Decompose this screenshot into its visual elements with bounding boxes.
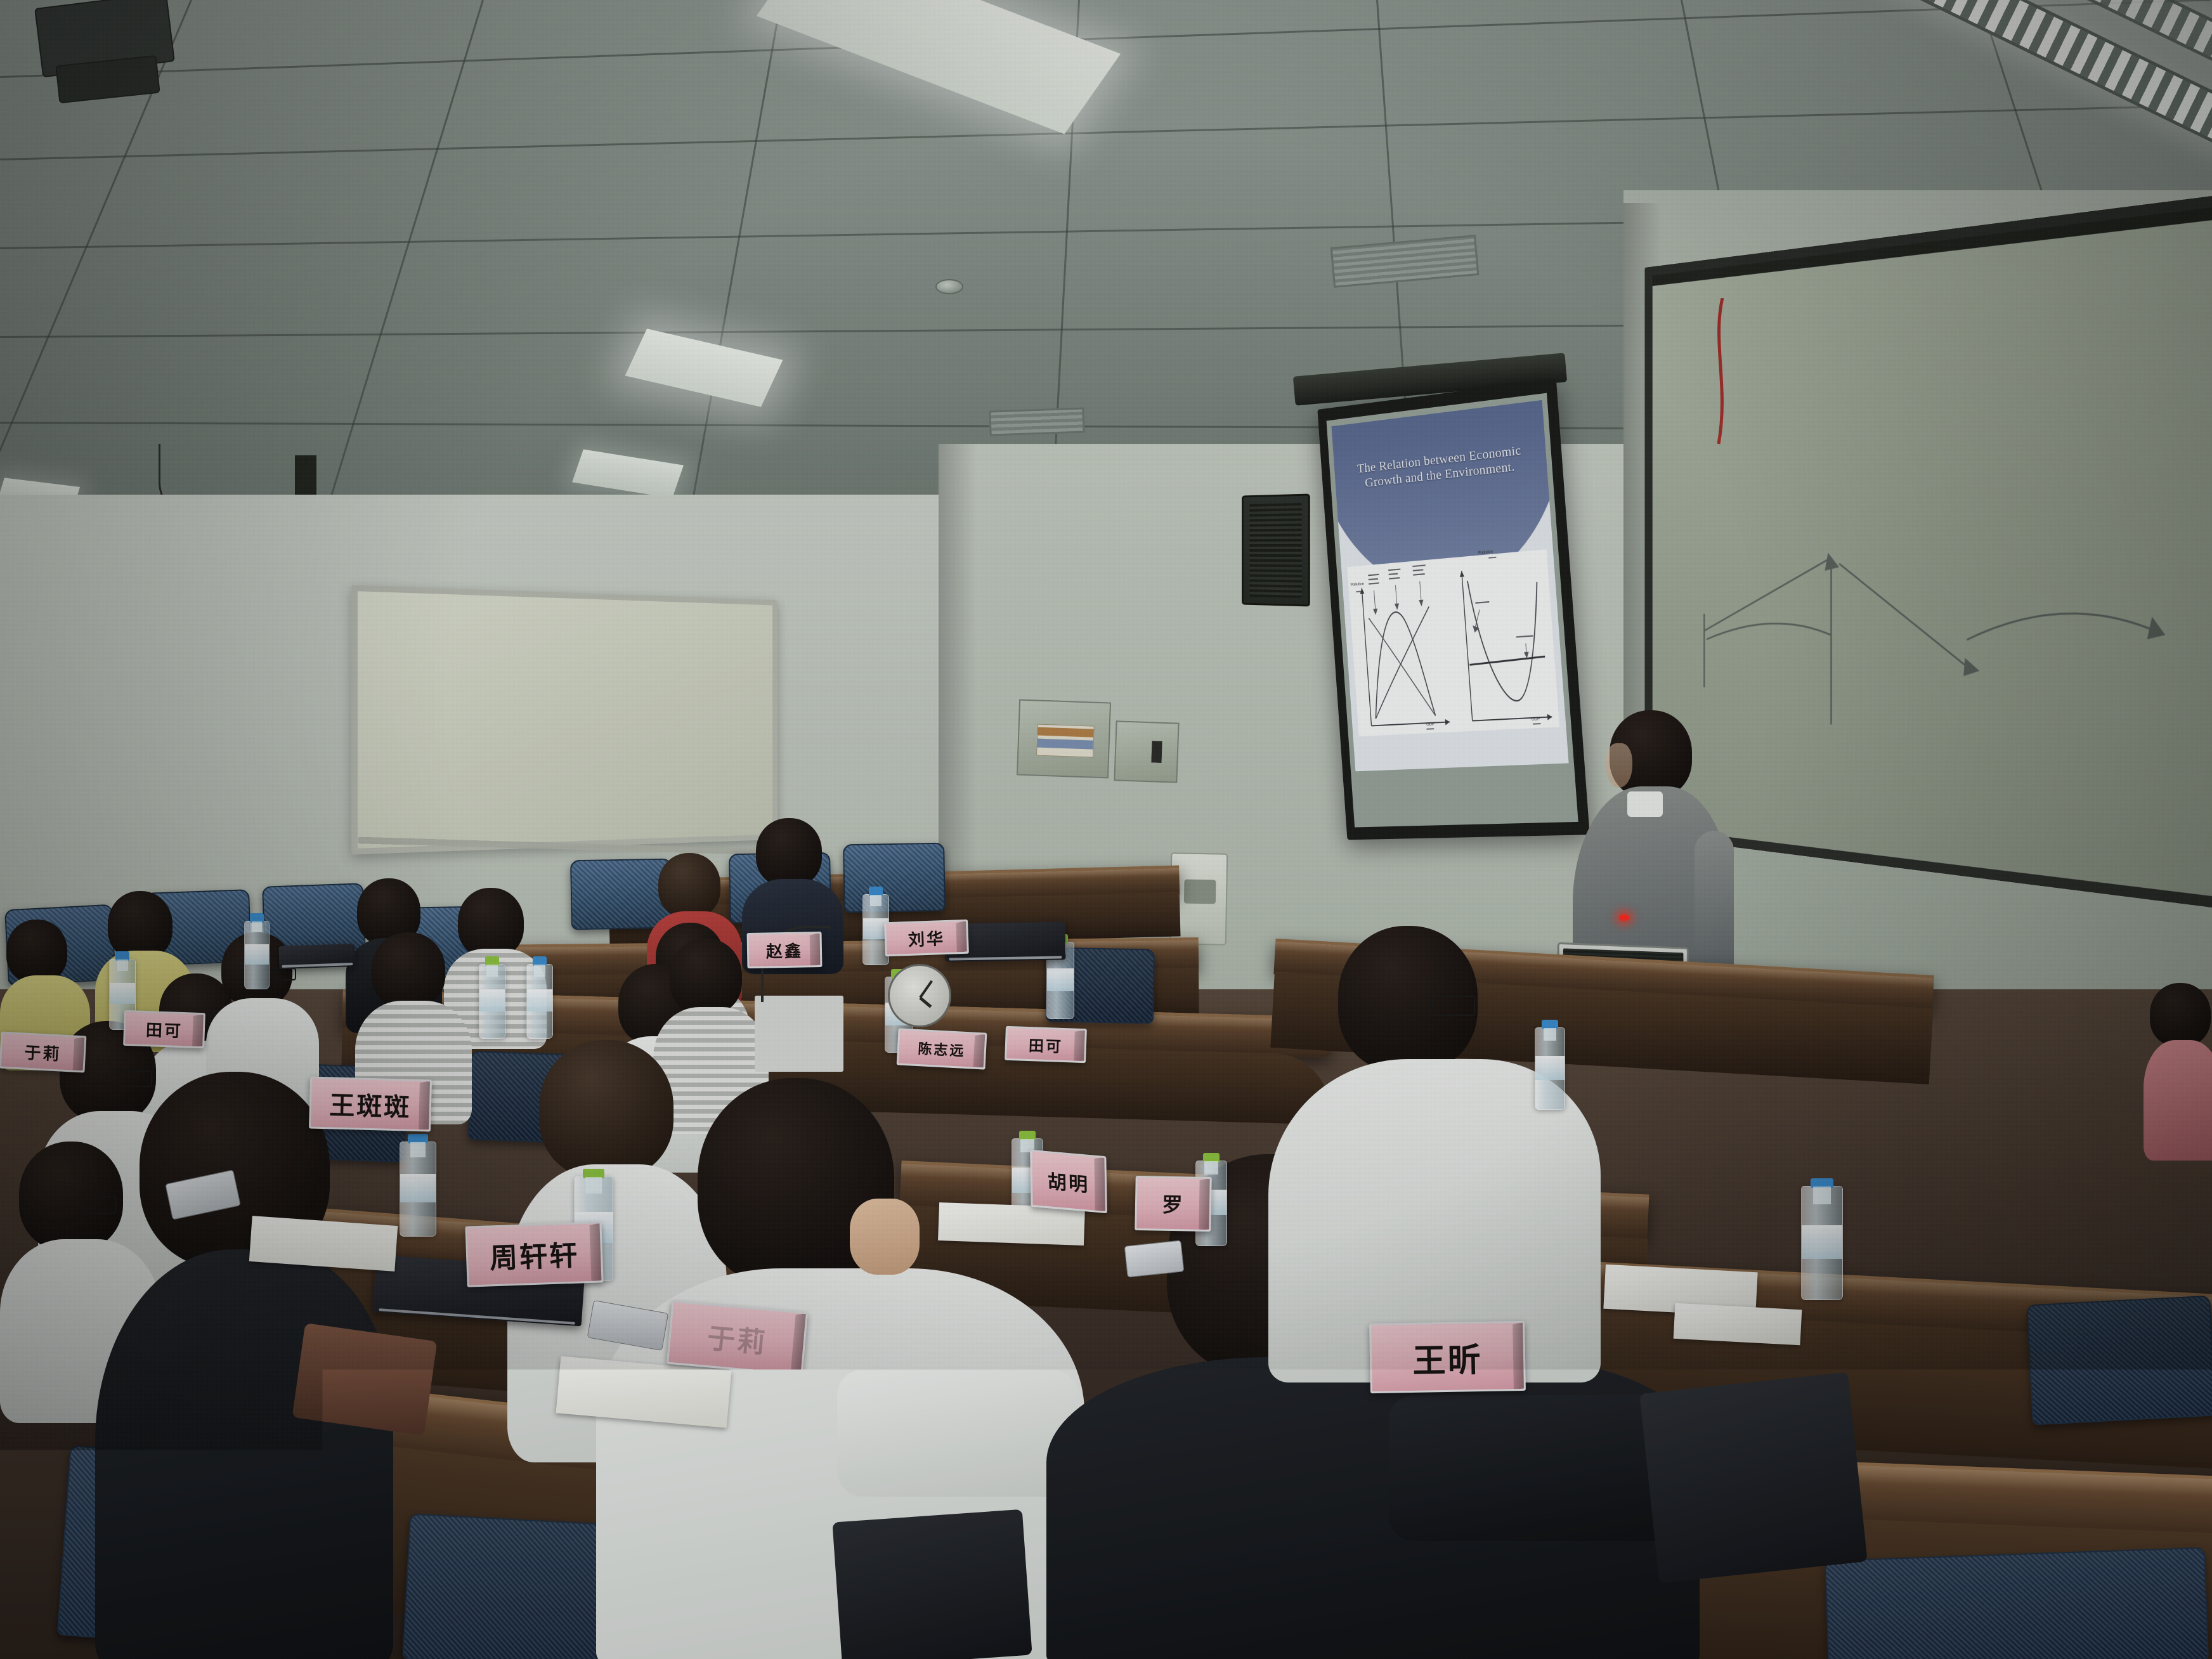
- mobile-phone[interactable]: [1124, 1240, 1185, 1277]
- glasses-icon: [1429, 996, 1475, 1016]
- water-bottle[interactable]: [400, 1142, 436, 1237]
- placard-name: 刘华: [908, 925, 945, 950]
- head: [756, 818, 822, 887]
- laser-pointer-light: [1619, 914, 1629, 921]
- arm: [837, 1370, 1078, 1497]
- head: [108, 891, 172, 960]
- water-bottle[interactable]: [526, 964, 553, 1039]
- name-placard: 罗: [1135, 1176, 1211, 1232]
- placard-name: 胡明: [1048, 1166, 1090, 1197]
- placard-name: 于莉: [24, 1039, 62, 1065]
- hand: [850, 1199, 920, 1275]
- presenter-face: [1606, 743, 1632, 788]
- wall-speaker: [1242, 493, 1310, 606]
- shoulder-bag[interactable]: [1639, 1372, 1868, 1584]
- name-placard: 王昕: [1369, 1321, 1526, 1393]
- name-placard: 陈志远: [897, 1028, 987, 1069]
- water-bottle[interactable]: [1535, 1027, 1565, 1110]
- head: [372, 932, 445, 1008]
- placard-name: 田可: [1028, 1033, 1063, 1057]
- name-placard: 王斑斑: [309, 1077, 432, 1132]
- left-chart: Pollution GDP: [1348, 558, 1457, 736]
- placard-name: 于莉: [706, 1315, 769, 1361]
- microphone-base: [755, 996, 843, 1072]
- ceiling-air-vent-2: [989, 407, 1084, 436]
- chair[interactable]: [843, 843, 946, 913]
- placard-name: 周轩轩: [489, 1233, 580, 1277]
- glasses-icon: [272, 968, 296, 980]
- electrical-control-box-1: [1017, 699, 1111, 779]
- name-placard: 赵鑫: [747, 932, 823, 968]
- name-placard: 田可: [1005, 1026, 1087, 1063]
- name-placard: 刘华: [884, 920, 969, 957]
- placard-name: 田可: [145, 1017, 183, 1041]
- water-bottle[interactable]: [1801, 1186, 1843, 1300]
- torso: [95, 1249, 393, 1659]
- electrical-box-label: [1036, 724, 1095, 758]
- screen-pull-cord: [1700, 298, 1750, 450]
- placard-name: 赵鑫: [766, 938, 803, 962]
- chair[interactable]: [2026, 1296, 2212, 1426]
- placard-name: 王昕: [1412, 1333, 1483, 1382]
- right-chart-xlabel: GDP: [1532, 717, 1540, 722]
- name-placard: 于莉: [0, 1032, 86, 1073]
- name-placard: 胡明: [1030, 1150, 1107, 1214]
- smoke-detector-icon: [935, 279, 963, 294]
- chair[interactable]: [1825, 1547, 2209, 1659]
- head: [2150, 983, 2211, 1046]
- right-chart: Pollution GDP: [1445, 549, 1559, 732]
- whiteboard: [351, 585, 777, 854]
- head: [670, 939, 742, 1015]
- speaker-grille-icon: [1249, 502, 1302, 598]
- water-bottle[interactable]: [244, 921, 270, 989]
- dispenser-tap[interactable]: [1184, 880, 1216, 904]
- desk-clock: [888, 964, 951, 1027]
- head: [6, 920, 67, 983]
- presenter-shirt-collar: [1627, 791, 1663, 817]
- electrical-control-box-2: [1114, 720, 1179, 783]
- placard-name: 罗: [1162, 1189, 1185, 1219]
- handbag[interactable]: [292, 1323, 438, 1436]
- name-placard: 田可: [123, 1010, 205, 1048]
- projection-screen-frame: The Relation between Economic Growth and…: [1317, 379, 1589, 840]
- left-chart-xlabel: GDP: [1426, 722, 1435, 727]
- lecture-hall-photo: The Relation between Economic Growth and…: [0, 0, 2212, 1659]
- slide-chart-area: Pollution GDP: [1348, 549, 1559, 736]
- water-bottle[interactable]: [479, 964, 505, 1039]
- placard-name: 王斑斑: [329, 1084, 412, 1123]
- name-placard: 周轩轩: [465, 1221, 603, 1287]
- laptop[interactable]: [278, 944, 355, 969]
- presentation-slide: The Relation between Economic Growth and…: [1332, 400, 1569, 771]
- electrical-box-switch[interactable]: [1151, 741, 1162, 763]
- placard-name: 陈志远: [918, 1038, 966, 1060]
- projection-screen: The Relation between Economic Growth and…: [1327, 393, 1578, 828]
- head: [658, 853, 720, 918]
- audience-member: [1268, 926, 1598, 1382]
- audience-member: [2144, 983, 2212, 1161]
- torso: [2144, 1040, 2212, 1161]
- name-placard: 于莉: [667, 1301, 808, 1376]
- backpack[interactable]: [832, 1509, 1032, 1659]
- paper-sheet[interactable]: [1674, 1303, 1802, 1345]
